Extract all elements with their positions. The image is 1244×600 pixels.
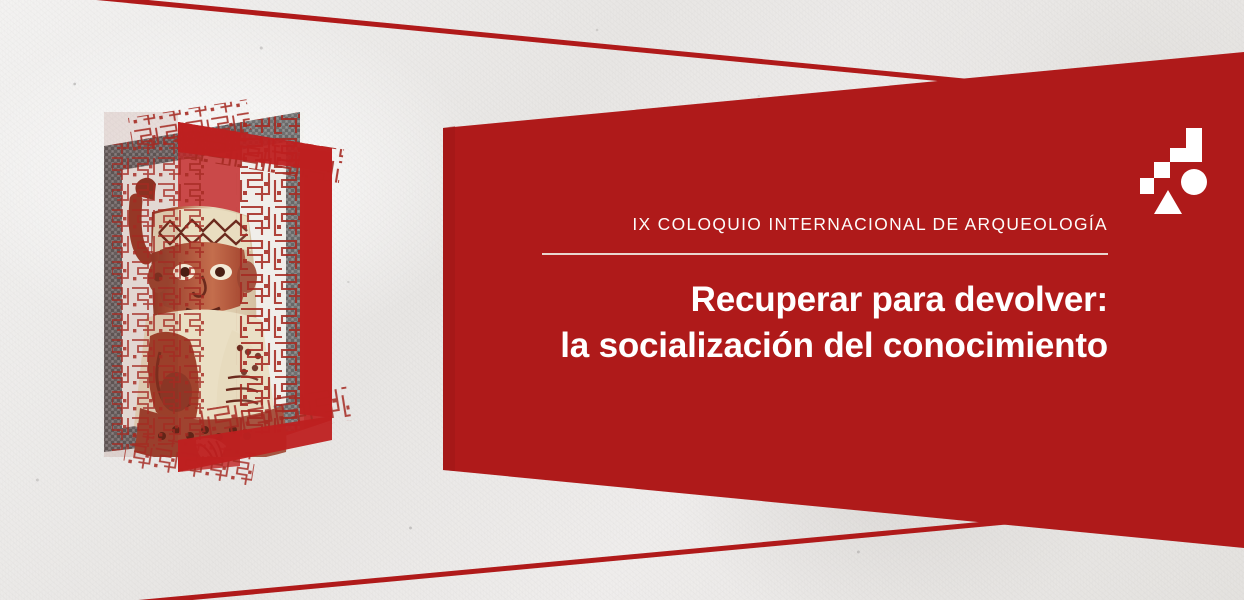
title-line-1: Recuperar para devolver: (691, 280, 1108, 319)
wall-fold-shadow (443, 126, 455, 471)
poster-canvas: IX COLOQUIO INTERNACIONAL DE ARQUEOLOGÍA… (0, 0, 1244, 600)
title-line-2: la socialización del conocimiento (542, 323, 1108, 370)
frame-right-band (300, 148, 332, 418)
arqueologia-stair-logo (1140, 128, 1214, 214)
stair-step-upper (1170, 148, 1186, 162)
headline-divider (542, 253, 1108, 255)
circle-shape (1181, 169, 1207, 195)
triangle-shape (1154, 190, 1182, 214)
headline-block: IX COLOQUIO INTERNACIONAL DE ARQUEOLOGÍA… (542, 214, 1108, 370)
stair-step-lower (1140, 178, 1154, 194)
event-eyebrow: IX COLOQUIO INTERNACIONAL DE ARQUEOLOGÍA (542, 214, 1108, 235)
poster-title: Recuperar para devolver: la socializació… (542, 277, 1108, 370)
stair-step-mid (1154, 162, 1170, 178)
